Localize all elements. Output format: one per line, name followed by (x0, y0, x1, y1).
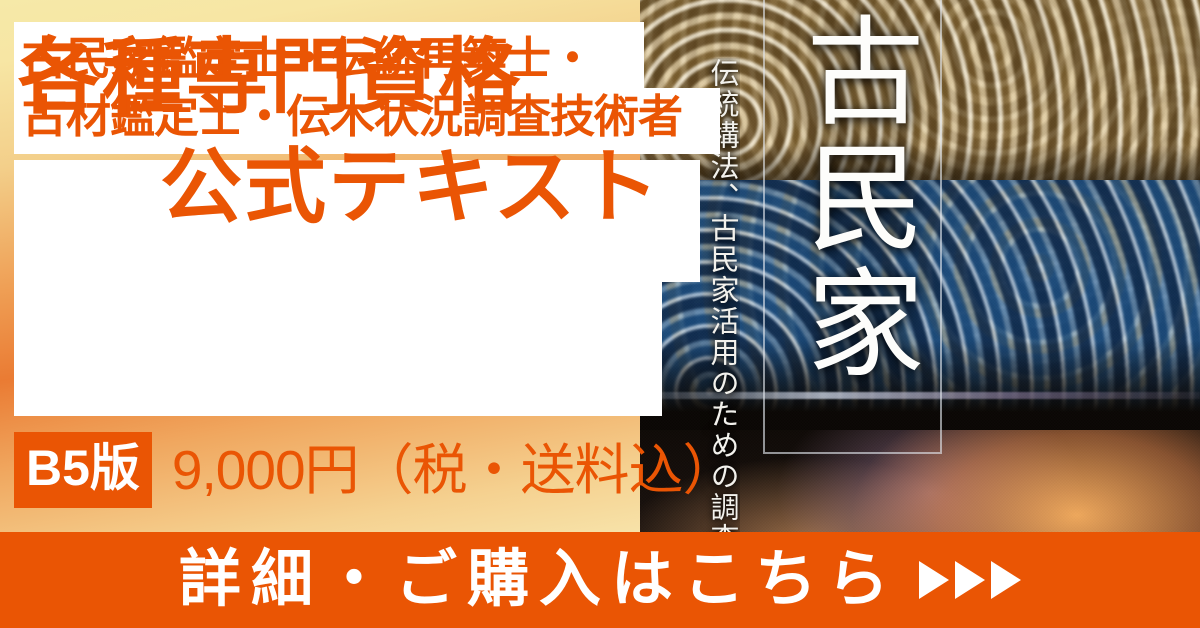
format-badge-b5: B5版 (14, 432, 152, 508)
promo-banner: 古民家 伝統構法、古民家活用のための調査と再生の 古民家鑑定士・伝統再築士・ 古… (0, 0, 1200, 628)
price-row: B5版 9,000円（税・送料込） (14, 424, 737, 516)
book-cover-title: 古民家 (775, 10, 925, 450)
main-message-line-2: 公式テキスト (160, 140, 662, 236)
play-triangle-icon (955, 561, 985, 599)
price-amount: 9,000円（税・送料込） (172, 437, 737, 503)
cta-bar[interactable]: 詳細・ご購入はこちら (0, 532, 1200, 628)
cta-arrow-group (919, 561, 1021, 599)
play-triangle-icon (919, 561, 949, 599)
play-triangle-icon (991, 561, 1021, 599)
cta-label: 詳細・ご購入はこちら (179, 544, 899, 616)
main-message-line-1: 各種専門資格 (18, 30, 522, 126)
